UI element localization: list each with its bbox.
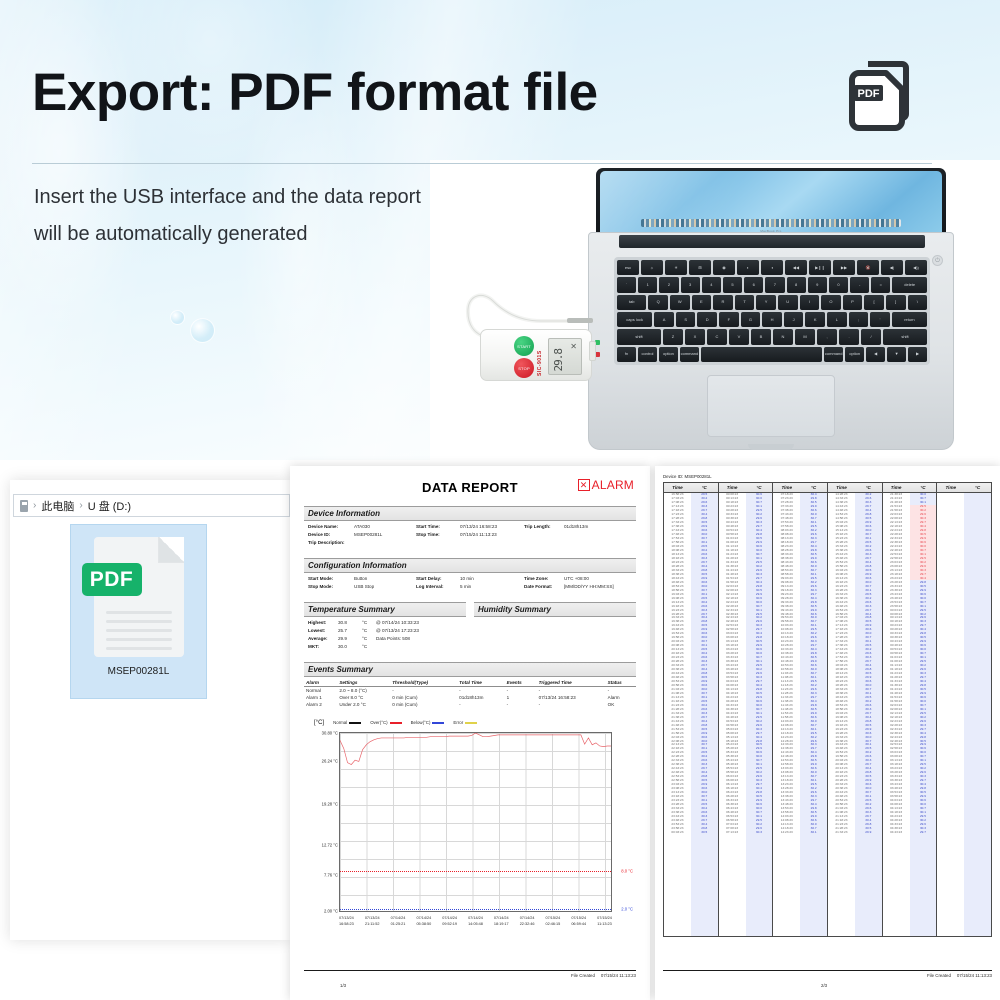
chart-legend-item: Error — [453, 720, 477, 725]
keyboard-key[interactable]: [ — [864, 295, 884, 310]
readings-column-body: 00:08:2300:13:2300:18:2300:23:2300:28:23… — [719, 493, 773, 936]
keyboard-key[interactable]: ☀ — [665, 260, 687, 275]
field-label: Trip Description: — [308, 540, 354, 547]
humidity-summary-grid — [474, 617, 636, 620]
keyboard-key[interactable]: ▶▶ — [833, 260, 855, 275]
keyboard-key[interactable]: ◀)) — [905, 260, 927, 275]
keyboard-key[interactable]: E — [692, 295, 712, 310]
readings-column: Time°C — [937, 483, 991, 936]
data-page-number: 2/3 — [821, 983, 827, 988]
field-value: [MM/DD/YY HH:MM:SS] — [564, 584, 632, 591]
keyboard-key[interactable]: shift — [883, 329, 927, 344]
logger-stop-button[interactable]: STOP — [514, 358, 534, 378]
laptop-trackpad — [707, 375, 835, 437]
reading-value-cell: 29.9 — [855, 830, 882, 834]
keyboard-key[interactable]: I — [800, 295, 820, 310]
keyboard-key[interactable]: ⊞ — [689, 260, 711, 275]
device-information-grid: Device Name:ATA030Start Time:07/13/24 16… — [304, 521, 636, 547]
hero-banner: Export: PDF format file Insert the USB i… — [0, 0, 1000, 460]
chart-x-tick-label: 07/14/2418:19:17 — [494, 916, 509, 927]
readings-header-time: Time — [719, 485, 746, 490]
keyboard-key[interactable]: 2 — [659, 277, 678, 292]
hero-divider — [32, 163, 932, 164]
breadcrumb-item-this-pc[interactable]: 此电脑 — [41, 498, 74, 514]
field-value — [460, 540, 524, 547]
readings-value-cells: 30.429.830.529.930.630.030.730.129.530.2… — [800, 493, 827, 936]
keyboard-key[interactable]: K — [805, 312, 825, 327]
chart-legend-swatch — [432, 722, 444, 723]
pdf-content-line — [106, 638, 172, 641]
keyboard-key[interactable]: J — [784, 312, 804, 327]
keyboard-key[interactable]: 1 — [638, 277, 657, 292]
laptop-lid: MacBook Pro — [596, 168, 946, 232]
readings-header-unit: °C — [964, 485, 991, 490]
events-table-cell: - — [537, 686, 606, 694]
keyboard-key[interactable]: 5 — [723, 277, 742, 292]
keyboard-key[interactable]: control — [638, 347, 657, 362]
events-table-column-header: Alarm — [304, 679, 337, 687]
readings-value-cells: 30.030.730.129.530.229.630.329.730.429.8… — [910, 493, 937, 936]
chart-legend-swatch — [390, 722, 402, 723]
chart-legend-swatch — [465, 722, 477, 723]
readings-table: Time°C16:58:2317:03:2317:08:2317:13:2317… — [663, 482, 992, 937]
alarm-x-icon: ✕ — [578, 479, 590, 491]
chart-x-tick-label: 07/13/2421:11:52 — [365, 916, 380, 927]
keyboard-key[interactable]: R — [713, 295, 733, 310]
field-value: 07/13/24 16:58:23 — [460, 524, 524, 531]
events-table-row: Alarm 1Over 8.0 °C0 min (Cum)01d18h13m10… — [304, 694, 636, 701]
macos-dock — [641, 219, 901, 227]
summary-label: Average: — [308, 636, 338, 643]
keyboard-key[interactable]: Y — [756, 295, 776, 310]
events-table-cell: 1 — [505, 694, 537, 701]
field-value: 10 min — [460, 576, 524, 583]
events-table-column-header: Triggered Time — [537, 679, 606, 687]
readings-value-cells: 30.630.030.730.129.530.229.630.329.730.4… — [746, 493, 773, 936]
field-label: Device Name: — [308, 524, 354, 531]
chart-unit-label: [°C] — [314, 720, 324, 726]
chart-legend-item: Normal — [333, 720, 361, 725]
events-table-cell: 0 min (Cum) — [390, 694, 457, 701]
keyboard-key[interactable]: ☼ — [641, 260, 663, 275]
summary-value: °C — [362, 628, 376, 635]
keyboard-row-qwerty: tabQWERTYUIOP[]\ — [617, 295, 927, 310]
data-page-device-id-value: MSEP00281L — [685, 474, 712, 479]
events-table-cell: - — [606, 686, 636, 694]
field-value — [354, 540, 416, 547]
readings-header-time: Time — [664, 485, 691, 490]
readings-header-unit: °C — [800, 485, 827, 490]
keyboard-key[interactable]: 8 — [787, 277, 806, 292]
configuration-information-grid: Start Mode:ButtonStart Delay:10 minTime … — [304, 573, 636, 591]
chart-over-limit-label: 8.0 °C — [621, 869, 633, 874]
summary-value: 30.8 — [338, 620, 362, 627]
chart-x-tick-label: 07/15/2411:13:23 — [597, 916, 612, 927]
readings-column-header: Time°C — [883, 483, 937, 493]
readings-time-cells: 16:58:2317:03:2317:08:2317:13:2317:18:23… — [664, 493, 691, 936]
keyboard-key[interactable]: Z — [663, 329, 683, 344]
power-button-icon: ⏻ — [932, 255, 943, 266]
temperature-series-line — [340, 733, 611, 911]
field-label: Time Zone: — [524, 576, 564, 583]
keyboard-key[interactable]: U — [778, 295, 798, 310]
keyboard-key[interactable]: \ — [908, 295, 928, 310]
events-table-cell: Over 8.0 °C — [337, 694, 390, 701]
keyboard-key[interactable]: ▶ — [908, 347, 927, 362]
chart-under-limit-label: 2.0 °C — [621, 907, 633, 912]
chart-x-tick-label: 07/15/2406:59:44 — [571, 916, 586, 927]
keyboard-key[interactable]: = — [871, 277, 890, 292]
readings-column: Time°C14:28:2314:33:2314:38:2314:43:2314… — [828, 483, 883, 936]
chart-y-tick-label: 2.00 °C — [307, 908, 338, 913]
chart-plot-area: 8.0 °C 2.0 °C 30.80 °C26.24 °C19.28 °C12… — [339, 732, 612, 912]
readings-column-body — [937, 493, 991, 936]
field-value: UTC +08:00 — [564, 576, 632, 583]
chart-over-limit-line — [340, 871, 611, 872]
section-heading-humidity-summary: Humidity Summary — [474, 602, 636, 617]
events-table-cell: OK — [606, 701, 636, 708]
reading-value-cell: 30.3 — [746, 830, 773, 834]
keyboard-key[interactable]: ◑ — [761, 260, 783, 275]
chart-legend-swatch — [349, 722, 361, 723]
readings-time-cells: 07:18:2307:23:2307:28:2307:33:2307:38:23… — [773, 493, 800, 936]
readings-column-body: 16:58:2317:03:2317:08:2317:13:2317:18:23… — [664, 493, 718, 936]
field-value: MSEP00281L — [354, 532, 416, 539]
events-table-cell: Alarm 1 — [304, 694, 337, 701]
laptop-hinge — [619, 235, 925, 248]
reading-time-cell: 21:33:23 — [828, 830, 855, 834]
keyboard-key[interactable]: X — [685, 329, 705, 344]
reading-time-cell: 00:03:23 — [664, 830, 691, 834]
pdf-type-badge: PDF — [82, 563, 142, 596]
keyboard-key[interactable]: 🔇 — [857, 260, 879, 275]
laptop-keyboard: esc☼☀⊞◉◐◑◀◀▶❙❙▶▶🔇◀)◀)) `1234567890-=dele… — [614, 257, 930, 365]
field-value — [564, 532, 632, 539]
page-title: Export: PDF format file — [32, 62, 598, 123]
keyboard-key[interactable]: N — [773, 329, 793, 344]
summary-value: °C — [362, 636, 376, 643]
keyboard-key[interactable]: 3 — [681, 277, 700, 292]
field-label: Start Mode: — [308, 576, 354, 583]
keyboard-key[interactable]: command — [680, 347, 699, 362]
section-heading-device-information: Device Information — [304, 506, 636, 521]
readings-column-body: 14:28:2314:33:2314:38:2314:43:2314:48:23… — [828, 493, 882, 936]
usb-drive-icon — [20, 500, 28, 512]
chart-y-tick-label: 26.24 °C — [307, 759, 338, 764]
keyboard-key[interactable]: P — [843, 295, 863, 310]
field-value: USB Stop — [354, 584, 416, 591]
readings-column-header: Time°C — [664, 483, 718, 493]
summary-value: °C — [362, 620, 376, 627]
summary-value: 25.7 — [338, 628, 362, 635]
keyboard-key[interactable]: caps lock — [617, 312, 652, 327]
temperature-chart: [°C] NormalOver(°C)Below(°C)Error 8.0 °C… — [304, 720, 636, 935]
keyboard-key[interactable]: G — [741, 312, 761, 327]
pdf-report-page-1: DATA REPORT ✕ ALARM Device Information D… — [290, 466, 650, 1000]
readings-time-cells: 00:08:2300:13:2300:18:2300:23:2300:28:23… — [719, 493, 746, 936]
events-table-row: Alarm 2Under 2.0 °C0 min (Cum)---OK — [304, 701, 636, 708]
events-table-cell: 2.0 ~ 8.0 (°C) — [337, 686, 390, 694]
readings-column-header: Time°C — [719, 483, 773, 493]
keyboard-key[interactable]: C — [707, 329, 727, 344]
events-table-row: Normal2.0 ~ 8.0 (°C)----- — [304, 686, 636, 694]
chart-legend-label: Error — [453, 720, 463, 725]
keyboard-row-function: esc☼☀⊞◉◐◑◀◀▶❙❙▶▶🔇◀)◀)) — [617, 260, 927, 275]
logger-lcd-display: ✕ 29.8 — [548, 338, 582, 375]
data-page-device-id: Device ID: MSEP00281L — [663, 474, 992, 479]
hero-subtitle-line-2: will be automatically generated — [34, 223, 308, 246]
report-footer-label: File Created — [571, 973, 595, 978]
keyboard-key[interactable]: shift — [617, 329, 661, 344]
pdf-content-line — [106, 629, 172, 632]
field-value: 01d18h13m — [564, 524, 632, 531]
data-page-device-id-label: Device ID: — [663, 474, 683, 479]
keyboard-key[interactable]: option — [845, 347, 864, 362]
readings-header-unit: °C — [910, 485, 937, 490]
events-table-column-header: Settings — [337, 679, 390, 687]
keyboard-key[interactable]: command — [824, 347, 843, 362]
keyboard-key[interactable]: ] — [886, 295, 906, 310]
laptop-illustration: MacBook Pro ⏻ esc☼☀⊞◉◐◑◀◀▶❙❙▶▶🔇◀)◀)) `12… — [588, 168, 954, 453]
keyboard-key[interactable]: ▶❙❙ — [809, 260, 831, 275]
summary-label: Highest: — [308, 620, 338, 627]
readings-header-unit: °C — [691, 485, 718, 490]
summary-value — [376, 644, 462, 651]
readings-time-cells — [937, 493, 964, 936]
readings-header-time: Time — [937, 485, 964, 490]
field-label: Log Interval: — [416, 584, 460, 591]
readings-column: Time°C16:58:2317:03:2317:08:2317:13:2317… — [664, 483, 719, 936]
readings-column-body: 21:38:2321:43:2321:48:2321:53:2321:58:23… — [883, 493, 937, 936]
keyboard-key[interactable]: fn — [617, 347, 636, 362]
keyboard-key[interactable]: L — [827, 312, 847, 327]
readings-value-cells: 29.530.229.630.329.730.429.830.529.930.6… — [691, 493, 718, 936]
reading-value-cell: 29.7 — [910, 830, 937, 834]
summary-label: MKT: — [308, 644, 338, 651]
events-table-column-header: Events — [505, 679, 537, 687]
chart-legend-label: Below(°C) — [411, 720, 431, 725]
summary-value: @ 07/13/24 17:23:23 — [376, 628, 462, 635]
keyboard-key[interactable]: 6 — [744, 277, 763, 292]
field-label — [524, 532, 564, 539]
chart-x-tick-label: 07/14/2422:32:46 — [520, 916, 535, 927]
readings-column: Time°C07:18:2307:23:2307:28:2307:33:2307… — [773, 483, 828, 936]
section-heading-events-summary: Events Summary — [304, 662, 636, 677]
keyboard-key[interactable]: ◀ — [866, 347, 885, 362]
keyboard-key[interactable]: A — [654, 312, 674, 327]
events-table-header-row: AlarmSettingsThreshold(Type)Total TimeEv… — [304, 679, 636, 687]
keyboard-key[interactable]: F — [719, 312, 739, 327]
bubble-decoration-small — [170, 310, 185, 325]
keyboard-key[interactable]: delete — [892, 277, 927, 292]
reading-time-cell: 04:43:23 — [883, 830, 910, 834]
keyboard-row-bottom: fncontroloptioncommandcommandoption◀▼▶ — [617, 347, 927, 362]
readings-column: Time°C00:08:2300:13:2300:18:2300:23:2300… — [719, 483, 774, 936]
pdf-content-line — [106, 620, 172, 623]
readings-value-cells: 30.229.630.329.730.429.830.529.930.630.0… — [855, 493, 882, 936]
lcd-temperature-value: 29.8 — [552, 349, 565, 372]
keyboard-key[interactable]: - — [850, 277, 869, 292]
pdf-report-page-2: Device ID: MSEP00281L Time°C16:58:2317:0… — [655, 466, 1000, 1000]
keyboard-key[interactable]: T — [735, 295, 755, 310]
events-table-cell: 07/13/24 16:58:23 — [537, 694, 606, 701]
laptop-screen: MacBook Pro — [600, 171, 942, 232]
chart-x-tick-label: 07/14/2409:52:19 — [442, 916, 457, 927]
bottom-section: › 此电脑 › U 盘 (D:) PDF MSEP00281L DATA REP… — [0, 460, 1000, 1000]
events-table-cell: - — [505, 686, 537, 694]
pdf-documents-icon: PDF — [846, 55, 924, 135]
field-label: Start Delay: — [416, 576, 460, 583]
keyboard-row-home: caps lockASDFGHJKL;'return — [617, 312, 927, 327]
field-label: Device ID: — [308, 532, 354, 539]
file-item-pdf[interactable]: PDF MSEP00281L — [70, 524, 207, 699]
field-label: Trip Length: — [524, 524, 564, 531]
logger-brand-label: SIC-901S — [537, 342, 545, 376]
keyboard-key[interactable]: return — [892, 312, 927, 327]
chart-legend-item: Over(°C) — [370, 720, 401, 725]
readings-header-time: Time — [828, 485, 855, 490]
readings-header-time: Time — [773, 485, 800, 490]
keyboard-key[interactable]: esc — [617, 260, 639, 275]
reading-time-cell: 07:13:23 — [719, 830, 746, 834]
keyboard-key[interactable]: B — [751, 329, 771, 344]
keyboard-key[interactable]: H — [762, 312, 782, 327]
keyboard-key[interactable]: S — [676, 312, 696, 327]
chart-x-tick-label: 07/15/2402:46:15 — [546, 916, 561, 927]
chart-x-tick-label: 07/14/2414:05:48 — [468, 916, 483, 927]
usb-connector-cap — [589, 341, 596, 361]
file-name-label: MSEP00281L — [108, 666, 170, 677]
chart-x-tick-label: 07/14/2405:38:50 — [416, 916, 431, 927]
keyboard-key[interactable]: 7 — [765, 277, 784, 292]
keyboard-key[interactable]: option — [659, 347, 678, 362]
field-label: Start Time: — [416, 524, 460, 531]
readings-header-unit: °C — [855, 485, 882, 490]
keyboard-key[interactable]: ◀◀ — [785, 260, 807, 275]
reading-time-cell: 14:23:23 — [773, 830, 800, 834]
events-table-cell: - — [457, 701, 504, 708]
keyboard-key[interactable]: ` — [617, 277, 636, 292]
keyboard-row-numbers: `1234567890-=delete — [617, 277, 927, 292]
summary-value: 29.9 — [338, 636, 362, 643]
summary-value: °C — [362, 644, 376, 651]
field-value: 07/15/24 11:13:23 — [460, 532, 524, 539]
readings-column-body: 07:18:2307:23:2307:28:2307:33:2307:38:23… — [773, 493, 827, 936]
keyboard-key[interactable] — [701, 347, 822, 362]
breadcrumb-separator-1: › — [33, 500, 36, 511]
readings-column-header: Time°C — [828, 483, 882, 493]
report-page-number: 1/3 — [340, 983, 346, 988]
chart-legend-label: Over(°C) — [370, 720, 387, 725]
keyboard-key[interactable]: M — [795, 329, 815, 344]
events-table-cell: 0 min (Cum) — [390, 701, 457, 708]
keyboard-key[interactable]: ◐ — [737, 260, 759, 275]
field-value — [564, 540, 632, 547]
report-footer-value: 07/15/24 11:13:23 — [601, 973, 636, 978]
readings-column-header: Time°C — [937, 483, 991, 493]
pdf-content-line — [106, 647, 172, 650]
readings-header-time: Time — [883, 485, 910, 490]
readings-value-cells — [964, 493, 991, 936]
pdf-page-fold — [158, 537, 184, 563]
section-heading-temperature-summary: Temperature Summary — [304, 602, 466, 617]
keyboard-key[interactable]: ▼ — [887, 347, 906, 362]
keyboard-key[interactable]: D — [697, 312, 717, 327]
keyboard-key[interactable]: ◀) — [881, 260, 903, 275]
summary-label: Lowest: — [308, 628, 338, 635]
keyboard-key[interactable]: Q — [648, 295, 668, 310]
reading-value-cell: 30.1 — [800, 830, 827, 834]
data-page-footer: File Created 07/15/24 11:13:23 — [663, 970, 992, 978]
readings-column-header: Time°C — [773, 483, 827, 493]
events-table-column-header: Status — [606, 679, 636, 687]
events-table-cell: 01d18h13m — [457, 694, 504, 701]
keyboard-key[interactable]: O — [821, 295, 841, 310]
keyboard-key[interactable]: 0 — [829, 277, 848, 292]
chart-legend: [°C] NormalOver(°C)Below(°C)Error — [304, 720, 636, 726]
chart-under-limit-line — [340, 909, 611, 910]
keyboard-key[interactable]: 9 — [808, 277, 827, 292]
keyboard-row-shift: shiftZXCVBNM,./shift — [617, 329, 927, 344]
chart-y-tick-label: 7.76 °C — [307, 873, 338, 878]
field-label: Stop Mode: — [308, 584, 354, 591]
keyboard-key[interactable]: ; — [849, 312, 869, 327]
summary-value: @ 07/14/24 10:33:23 — [376, 620, 462, 627]
keyboard-key[interactable]: . — [839, 329, 859, 344]
summary-value: Data Points: 508 — [376, 636, 462, 643]
lcd-status-icon: ✕ — [570, 342, 577, 351]
events-table-cell: - — [537, 701, 606, 708]
data-page-footer-value: 07/15/24 11:13:23 — [957, 973, 992, 978]
keyboard-key[interactable]: 4 — [702, 277, 721, 292]
readings-time-cells: 14:28:2314:33:2314:38:2314:43:2314:48:23… — [828, 493, 855, 936]
keyboard-key[interactable]: tab — [617, 295, 646, 310]
keyboard-key[interactable]: W — [670, 295, 690, 310]
events-table-cell: Under 2.0 °C — [337, 701, 390, 708]
events-table-column-header: Threshold(Type) — [390, 679, 457, 687]
events-summary-table: AlarmSettingsThreshold(Type)Total TimeEv… — [304, 679, 636, 708]
readings-column: Time°C21:38:2321:43:2321:48:2321:53:2321… — [883, 483, 938, 936]
logger-body: START STOP SIC-901S ✕ 29.8 — [480, 329, 592, 381]
field-label — [416, 540, 460, 547]
events-table-cell: - — [457, 686, 504, 694]
chart-y-tick-label: 19.28 °C — [307, 802, 338, 807]
keyboard-key[interactable]: ◉ — [713, 260, 735, 275]
section-heading-configuration-information: Configuration Information — [304, 558, 636, 573]
breadcrumb-item-usb-drive[interactable]: U 盘 (D:) — [88, 498, 131, 514]
summary-value: 30.0 — [338, 644, 362, 651]
chart-y-tick-label: 12.72 °C — [307, 842, 338, 847]
keyboard-key[interactable]: , — [817, 329, 837, 344]
chart-x-axis-ticks: 07/13/2416:58:2307/13/2421:11:5207/14/24… — [339, 916, 612, 927]
alarm-badge-label: ALARM — [592, 478, 634, 492]
breadcrumb-separator-2: › — [79, 500, 82, 511]
keyboard-key[interactable]: V — [729, 329, 749, 344]
readings-header-unit: °C — [746, 485, 773, 490]
breadcrumb[interactable]: › 此电脑 › U 盘 (D:) — [13, 494, 290, 517]
field-label: Stop Time: — [416, 532, 460, 539]
reading-value-cell: 30.5 — [691, 830, 718, 834]
report-footer: File Created 07/15/24 11:13:23 — [304, 970, 636, 978]
field-value: ATA030 — [354, 524, 416, 531]
keyboard-key[interactable]: / — [861, 329, 881, 344]
laptop-base-notch — [748, 444, 794, 450]
field-value: 5 min — [460, 584, 524, 591]
logger-start-button[interactable]: START — [514, 336, 534, 356]
file-explorer-window: › 此电脑 › U 盘 (D:) PDF MSEP00281L — [0, 474, 290, 944]
keyboard-key[interactable]: ' — [870, 312, 890, 327]
events-table-cell: Alarm 2 — [304, 701, 337, 708]
